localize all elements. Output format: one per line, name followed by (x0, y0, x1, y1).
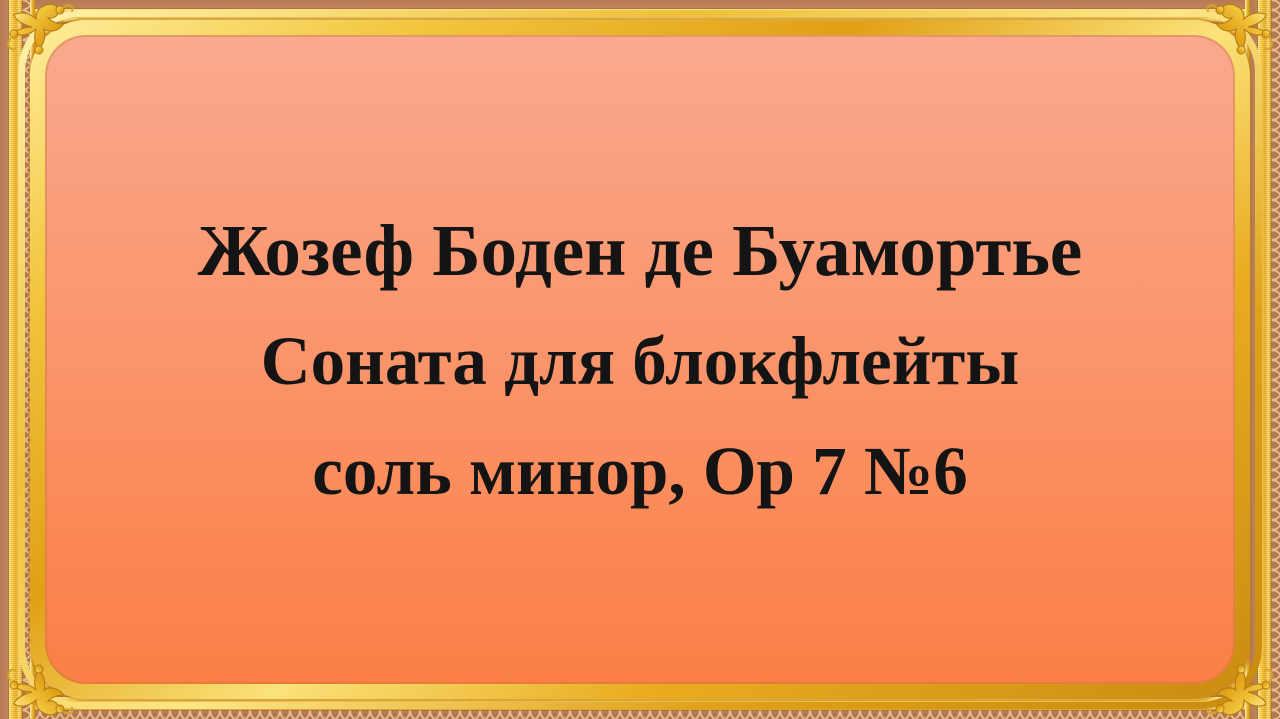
page-title: Жозеф Боден де Буамортье Соната для блок… (0, 196, 1280, 526)
frame-ribbon-bottom (0, 697, 1280, 710)
title-line-1: Жозеф Боден де Буамортье (0, 196, 1280, 306)
title-card-slide: Жозеф Боден де Буамортье Соната для блок… (0, 0, 1280, 719)
title-line-3: соль минор, Op 7 №6 (0, 416, 1280, 526)
title-line-2: Соната для блокфлейты (0, 306, 1280, 416)
frame-ribbon-top (0, 9, 1280, 22)
